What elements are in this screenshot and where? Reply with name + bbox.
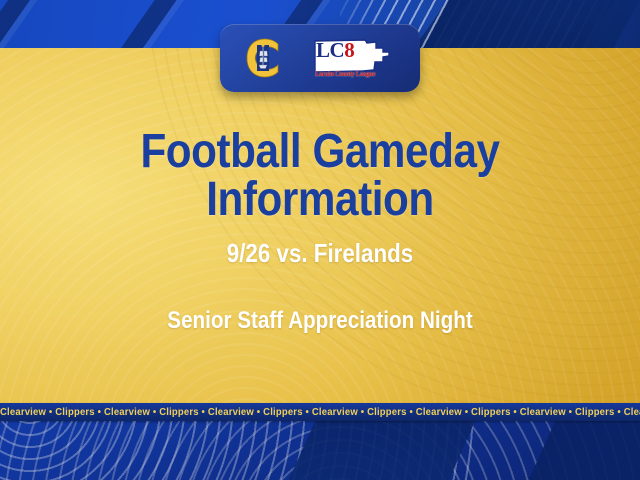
gold-background-panel: [0, 48, 640, 404]
bottom-blue-band: [0, 420, 640, 480]
league-logo-lc: LC: [316, 38, 344, 62]
page-title: Football Gameday Information: [38, 128, 601, 224]
logo-badge: LC8 Lorain County League: [220, 24, 420, 92]
clearview-clippers-c-logo: [241, 35, 287, 81]
gold-vignette: [0, 48, 640, 404]
matchup-subtitle: 9/26 vs. Firelands: [45, 240, 595, 266]
ticker-strip: Clearview • Clippers • Clearview • Clipp…: [0, 403, 640, 421]
league-logo-8: 8: [344, 38, 354, 62]
league-logo-subtext: Lorain County League: [315, 70, 375, 78]
lorain-county-league-logo: LC8 Lorain County League: [313, 37, 399, 79]
event-theme-subtitle: Senior Staff Appreciation Night: [45, 309, 595, 333]
ticker-text: Clearview • Clippers • Clearview • Clipp…: [0, 407, 640, 418]
gameday-graphic: LC8 Lorain County League Football Gameda…: [0, 0, 640, 480]
league-logo-text: LC8: [316, 40, 354, 61]
